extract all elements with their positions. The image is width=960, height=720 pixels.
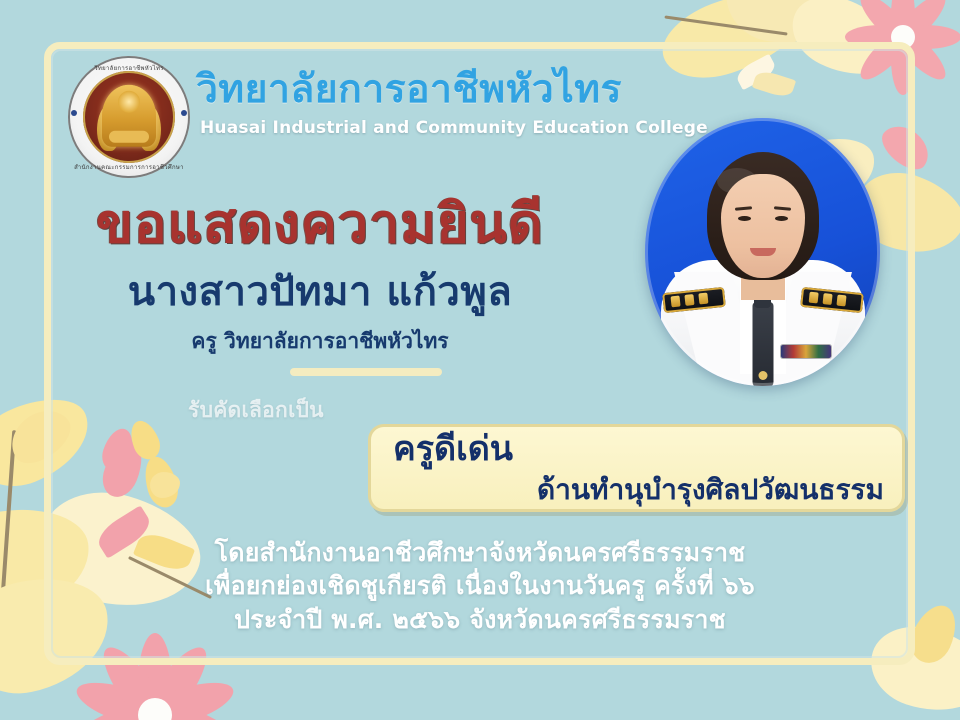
awardee-role: ครู วิทยาลัยการอาชีพหัวไทร: [0, 331, 640, 352]
footer-line-3: ประจำปี พ.ศ. ๒๕๖๖ จังหวัดนครศรีธรรมราช: [0, 603, 960, 636]
congratulations-poster: วิทยาลัยการอาชีพหัวไทร สำนักงานคณะกรรมกา…: [0, 0, 960, 720]
college-name-english: Huasai Industrial and Community Educatio…: [200, 120, 708, 137]
footer-text-block: โดยสำนักงานอาชีวศึกษาจังหวัดนครศรีธรรมรา…: [0, 536, 960, 636]
seal-dot-left: [71, 110, 77, 116]
seal-dot-right: [181, 110, 187, 116]
portrait-rim-highlight: [645, 118, 880, 386]
seal-center-emblem: [102, 85, 156, 147]
award-title: ครูดีเด่น: [393, 432, 513, 468]
college-seal-logo: วิทยาลัยการอาชีพหัวไทร สำนักงานคณะกรรมกา…: [68, 56, 190, 178]
award-title-box: ครูดีเด่น ด้านทำนุบำรุงศิลปวัฒนธรรม: [368, 424, 905, 512]
seal-ring-text-bottom: สำนักงานคณะกรรมการการอาชีวศึกษา: [68, 162, 190, 172]
selected-as-label: รับคัดเลือกเป็น: [188, 400, 324, 421]
divider-bar: [290, 368, 442, 376]
footer-line-2: เพื่อยกย่องเชิดชูเกียรติ เนื่องในงานวันค…: [0, 569, 960, 602]
award-subtitle: ด้านทำนุบำรุงศิลปวัฒนธรรม: [537, 475, 884, 504]
awardee-portrait: [645, 118, 880, 386]
awardee-name: นางสาวปัทมา แก้วพูล: [0, 272, 640, 312]
college-name-thai: วิทยาลัยการอาชีพหัวไทร: [196, 70, 622, 109]
footer-line-1: โดยสำนักงานอาชีวศึกษาจังหวัดนครศรีธรรมรา…: [0, 536, 960, 569]
congratulations-headline: ขอแสดงความยินดี: [0, 196, 640, 250]
seal-inner-disc: [83, 71, 175, 163]
